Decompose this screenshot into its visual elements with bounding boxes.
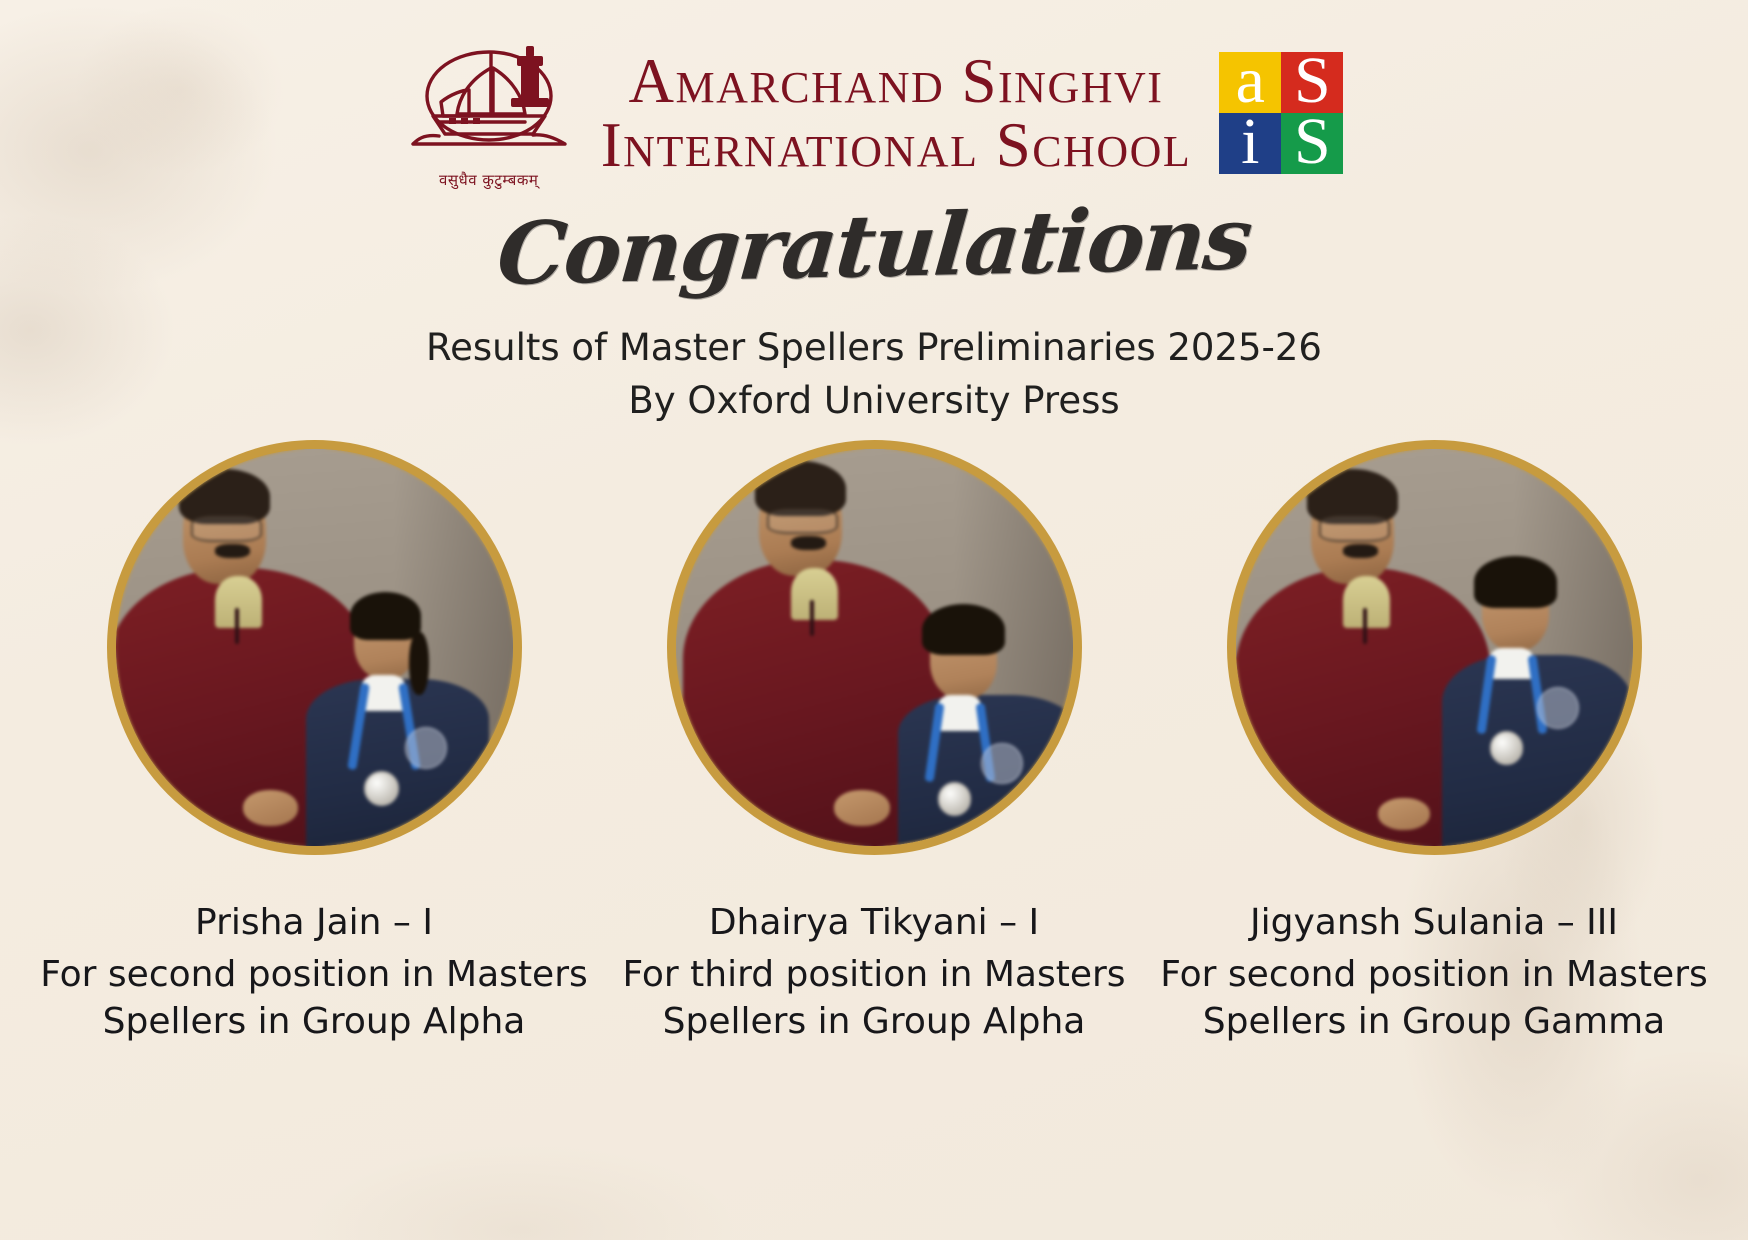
- awardee-desc-line2: Spellers in Group Gamma: [1160, 998, 1708, 1046]
- awardee-photo: [667, 440, 1082, 855]
- awardee-photo: [107, 440, 522, 855]
- asis-letter-s-top: S: [1294, 52, 1331, 113]
- asis-logo-cell-a: a: [1219, 52, 1281, 113]
- awardee-desc-line1: For third position in Masters: [622, 951, 1125, 999]
- awardee-card: Jigyansh Sulania – III For second positi…: [1194, 440, 1674, 1046]
- awardee-card: Dhairya Tikyani – I For third position i…: [634, 440, 1114, 1046]
- awardee-caption: Dhairya Tikyani – I For third position i…: [622, 901, 1125, 1046]
- school-name: Amarchand Singhvi International School: [601, 49, 1192, 178]
- event-subtitle: Results of Master Spellers Preliminaries…: [0, 322, 1748, 427]
- awardee-name: Jigyansh Sulania – III: [1160, 901, 1708, 945]
- awardee-name: Dhairya Tikyani – I: [622, 901, 1125, 945]
- awardee-caption: Prisha Jain – I For second position in M…: [40, 901, 588, 1046]
- ship-lighthouse-crest-icon: [405, 38, 573, 170]
- awardee-desc-line1: For second position in Masters: [1160, 951, 1708, 999]
- congratulations-heading: Congratulations: [0, 178, 1748, 316]
- certificate-poster: वसुधैव कुटुम्बकम् Amarchand Singhvi Inte…: [0, 0, 1748, 1240]
- asis-logo-cell-i: i: [1219, 113, 1281, 174]
- asis-logo: a S i S: [1219, 52, 1343, 174]
- school-motto: वसुधैव कुटुम्बकम्: [405, 170, 573, 190]
- awardee-cards: Prisha Jain – I For second position in M…: [0, 440, 1748, 1046]
- awardee-name: Prisha Jain – I: [40, 901, 588, 945]
- subtitle-line1: Results of Master Spellers Preliminaries…: [0, 322, 1748, 375]
- awardee-photo: [1227, 440, 1642, 855]
- school-name-line2: International School: [601, 113, 1192, 177]
- awardee-desc-line1: For second position in Masters: [40, 951, 588, 999]
- subtitle-line2: By Oxford University Press: [0, 375, 1748, 428]
- asis-letter-i: i: [1241, 113, 1259, 174]
- school-name-line1: Amarchand Singhvi: [601, 49, 1192, 113]
- awardee-desc-line2: Spellers in Group Alpha: [40, 998, 588, 1046]
- asis-letter-a: a: [1236, 52, 1265, 113]
- awardee-card: Prisha Jain – I For second position in M…: [74, 440, 554, 1046]
- school-crest: वसुधैव कुटुम्बकम्: [405, 38, 573, 188]
- awardee-desc-line2: Spellers in Group Alpha: [622, 998, 1125, 1046]
- asis-logo-cell-s-top: S: [1281, 52, 1343, 113]
- asis-letter-s-bottom: S: [1294, 113, 1331, 174]
- asis-logo-cell-s-bottom: S: [1281, 113, 1343, 174]
- awardee-caption: Jigyansh Sulania – III For second positi…: [1160, 901, 1708, 1046]
- poster-header: वसुधैव कुटुम्बकम् Amarchand Singhvi Inte…: [0, 38, 1748, 188]
